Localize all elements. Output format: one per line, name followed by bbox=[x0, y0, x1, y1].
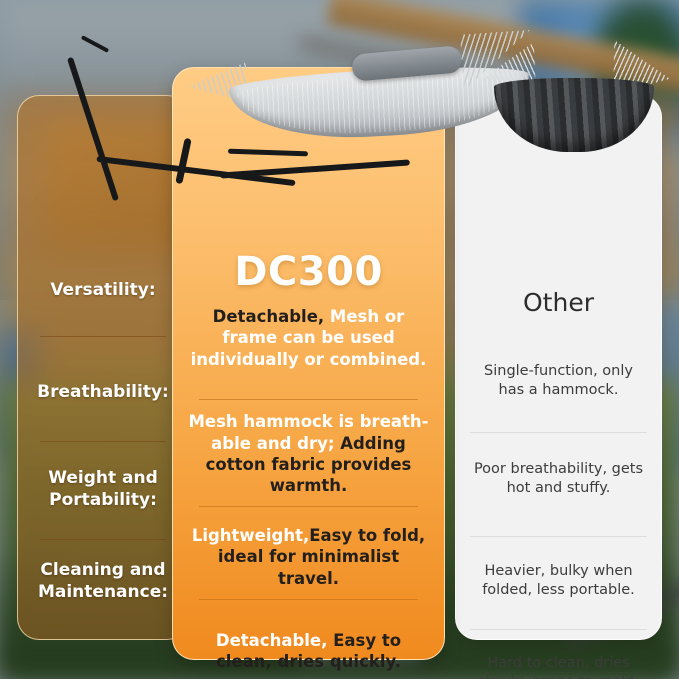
competitor-divider-2 bbox=[470, 629, 647, 630]
product-card: DC300 Detachable, Mesh or frame can be u… bbox=[172, 67, 445, 660]
competitor-card: Other Single-function, only has a hammoc… bbox=[455, 95, 662, 640]
product-row-3: Detachable, Easy to clean, dries quickly… bbox=[173, 606, 444, 679]
competitor-row-2: Heavier, bulky when folded, less portabl… bbox=[456, 546, 661, 616]
feature-label-row-2: Weight and Portability: bbox=[18, 454, 188, 526]
feature-label-card: Versatility: Breathability: Weight and P… bbox=[17, 95, 189, 640]
product-divider-2 bbox=[199, 599, 418, 600]
feature-label-3: Cleaning and Maintenance: bbox=[26, 560, 180, 604]
feature-divider-0 bbox=[40, 336, 166, 337]
product-row-0: Detachable, Mesh or frame can be used in… bbox=[173, 292, 444, 384]
product-title: DC300 bbox=[173, 249, 444, 295]
feature-label-1: Breathability: bbox=[37, 382, 169, 404]
competitor-text-0: Single-function, only has a hammock. bbox=[472, 362, 645, 400]
feature-label-row-3: Cleaning and Maintenance: bbox=[18, 546, 188, 618]
product-divider-0 bbox=[199, 399, 418, 400]
competitor-divider-0 bbox=[470, 432, 647, 433]
feature-label-2: Weight and Portability: bbox=[26, 468, 180, 512]
product-highlight-3: Detachable, bbox=[216, 631, 333, 650]
competitor-row-1: Poor breathability, gets hot and stuffy. bbox=[456, 444, 661, 514]
product-divider-1 bbox=[199, 506, 418, 507]
competitor-text-2: Heavier, bulky when folded, less portabl… bbox=[472, 562, 645, 600]
feature-divider-2 bbox=[40, 539, 166, 540]
competitor-row-0: Single-function, only has a hammock. bbox=[456, 346, 661, 416]
feature-label-row-0: Versatility: bbox=[18, 256, 188, 326]
competitor-text-3: Hard to clean, dries slowly, prone to mo… bbox=[472, 654, 645, 679]
infographic-root: Versatility: Breathability: Weight and P… bbox=[0, 0, 679, 679]
competitor-divider-1 bbox=[470, 536, 647, 537]
competitor-title: Other bbox=[456, 288, 661, 317]
feature-label-0: Versatility: bbox=[50, 280, 155, 302]
product-highlight-2: Lightweight, bbox=[192, 526, 309, 545]
product-row-1: Mesh hammock is breath-able and dry; Add… bbox=[173, 408, 444, 500]
product-row-2: Lightweight,Easy to fold, ideal for mini… bbox=[173, 512, 444, 602]
competitor-text-1: Poor breathability, gets hot and stuffy. bbox=[472, 460, 645, 498]
feature-divider-1 bbox=[40, 441, 166, 442]
feature-label-row-1: Breathability: bbox=[18, 358, 188, 428]
competitor-row-3: Hard to clean, dries slowly, prone to mo… bbox=[456, 638, 661, 679]
product-highlight-0: Detachable, bbox=[213, 307, 330, 326]
